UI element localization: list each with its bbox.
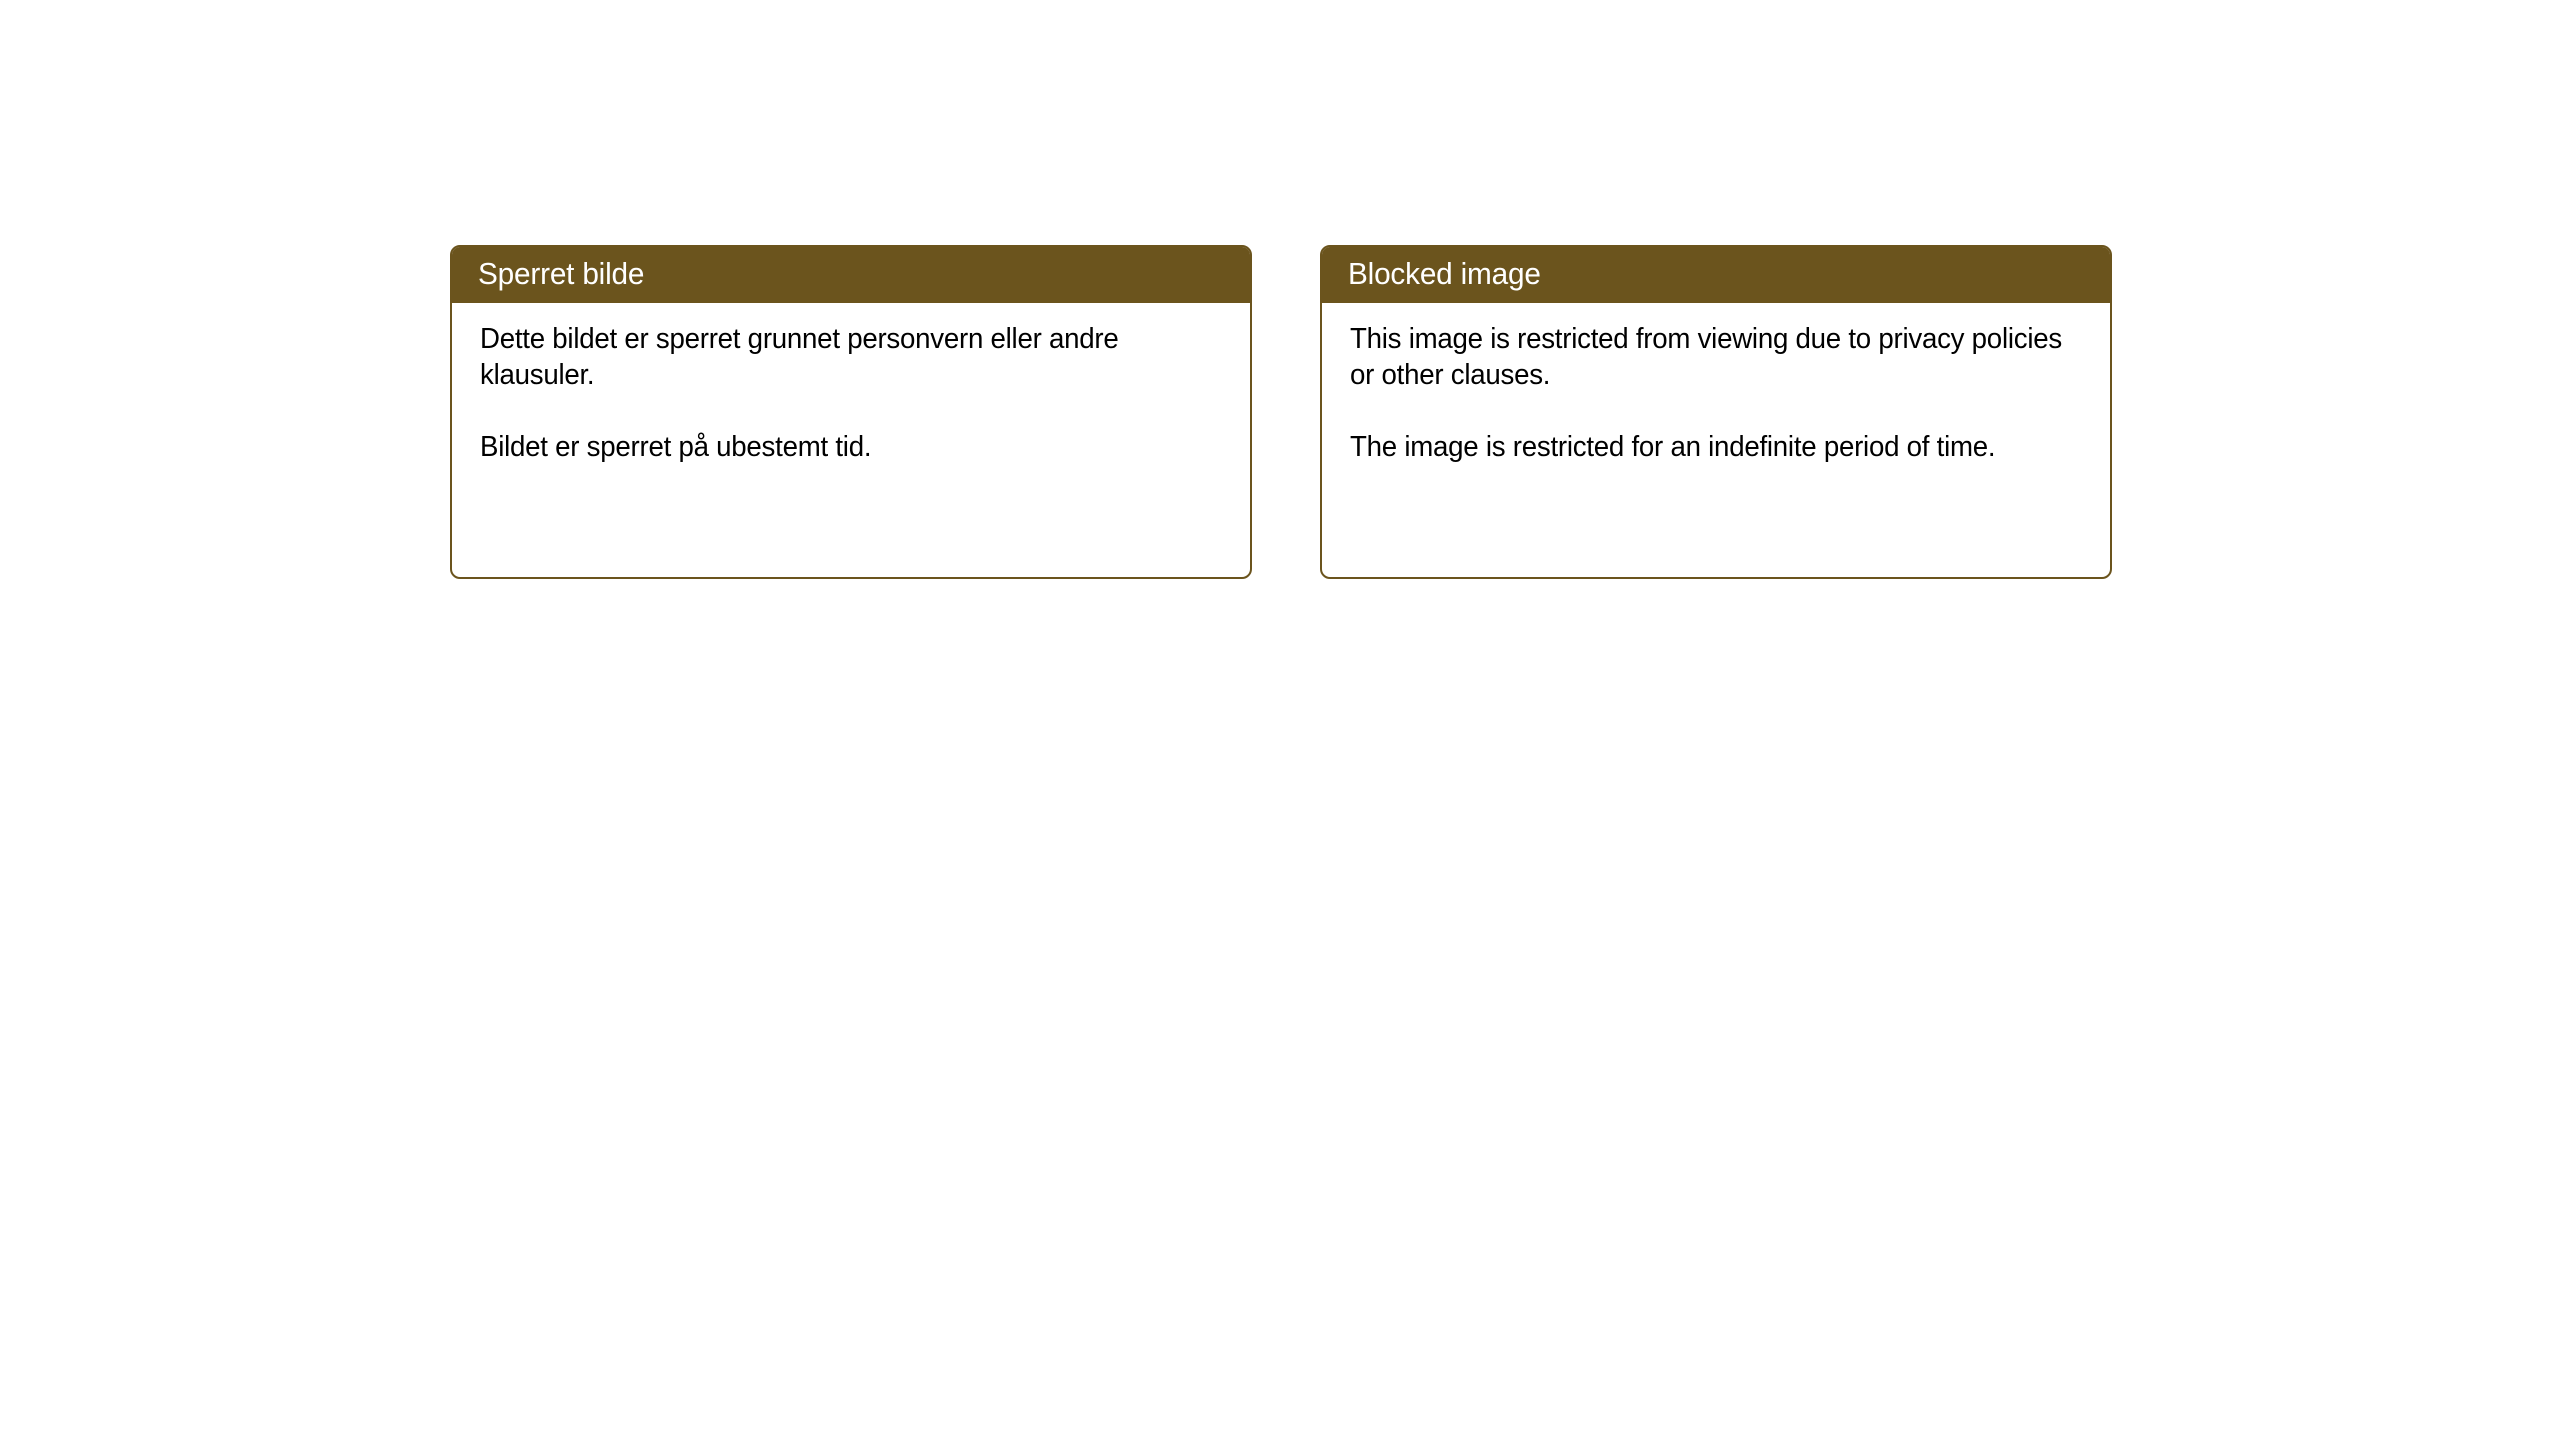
card-paragraph-no-2: Bildet er sperret på ubestemt tid. [480,429,1202,465]
blocked-image-notice-card-en: Blocked image This image is restricted f… [1320,245,2112,579]
card-title-en: Blocked image [1348,256,1541,292]
card-paragraph-no-1: Dette bildet er sperret grunnet personve… [480,321,1202,393]
card-title-no: Sperret bilde [478,256,644,292]
card-paragraph-en-1: This image is restricted from viewing du… [1350,321,2062,393]
blocked-image-notice-card-no: Sperret bilde Dette bildet er sperret gr… [450,245,1252,579]
card-header-en: Blocked image [1320,245,2112,303]
card-header-no: Sperret bilde [450,245,1252,303]
card-body-no: Dette bildet er sperret grunnet personve… [452,303,1250,465]
card-paragraph-en-2: The image is restricted for an indefinit… [1350,429,2062,465]
card-body-en: This image is restricted from viewing du… [1322,303,2110,465]
page-root: Sperret bilde Dette bildet er sperret gr… [0,0,2560,1440]
